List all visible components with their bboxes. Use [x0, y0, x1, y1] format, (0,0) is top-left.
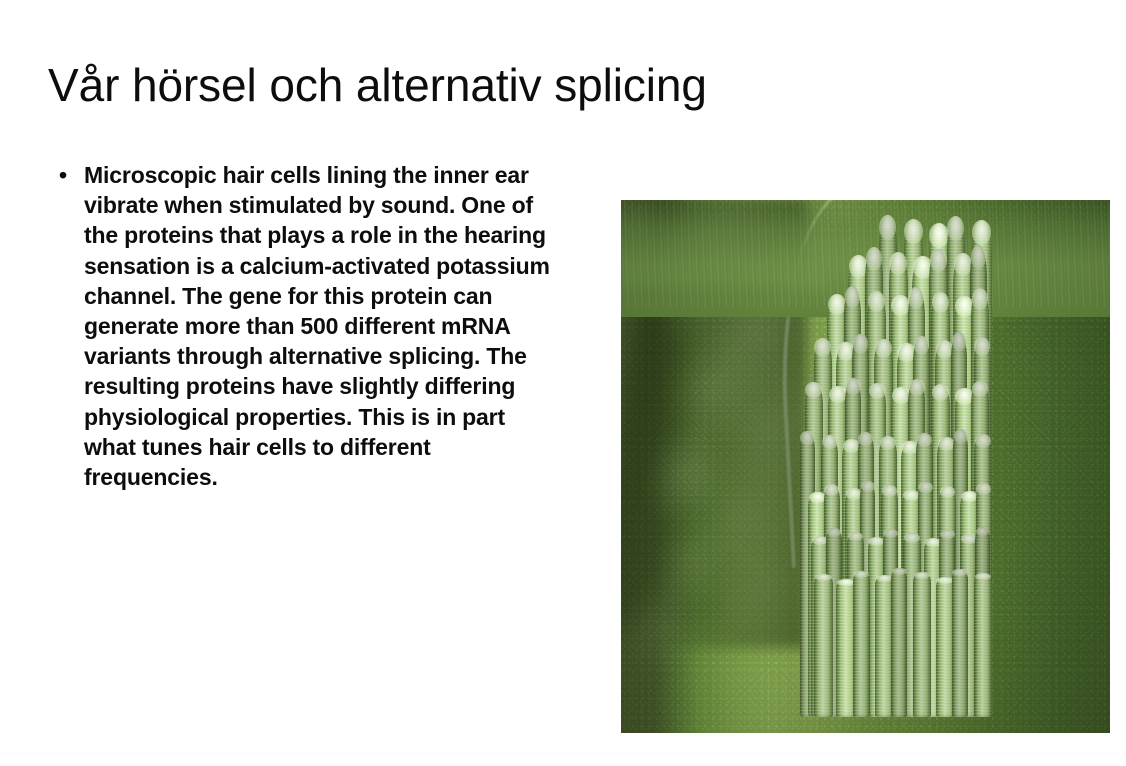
stereocilium: [814, 574, 832, 717]
bottom-divider: [0, 752, 1126, 753]
stereocilium: [974, 573, 992, 717]
list-item: • Microscopic hair cells lining the inne…: [56, 160, 556, 492]
stereocilium: [952, 569, 968, 717]
hair-cell-stereocilia-micrograph: [621, 200, 1110, 733]
body-text-block: • Microscopic hair cells lining the inne…: [56, 160, 556, 492]
bullet-marker-icon: •: [56, 160, 84, 190]
stereocilium: [853, 571, 870, 717]
stereocilium: [891, 568, 907, 717]
bullet-body-text: Microscopic hair cells lining the inner …: [84, 160, 556, 492]
stereocilium: [913, 572, 931, 717]
page-title: Vår hörsel och alternativ splicing: [48, 57, 1078, 113]
slide-canvas: Vår hörsel och alternativ splicing • Mic…: [0, 0, 1126, 766]
